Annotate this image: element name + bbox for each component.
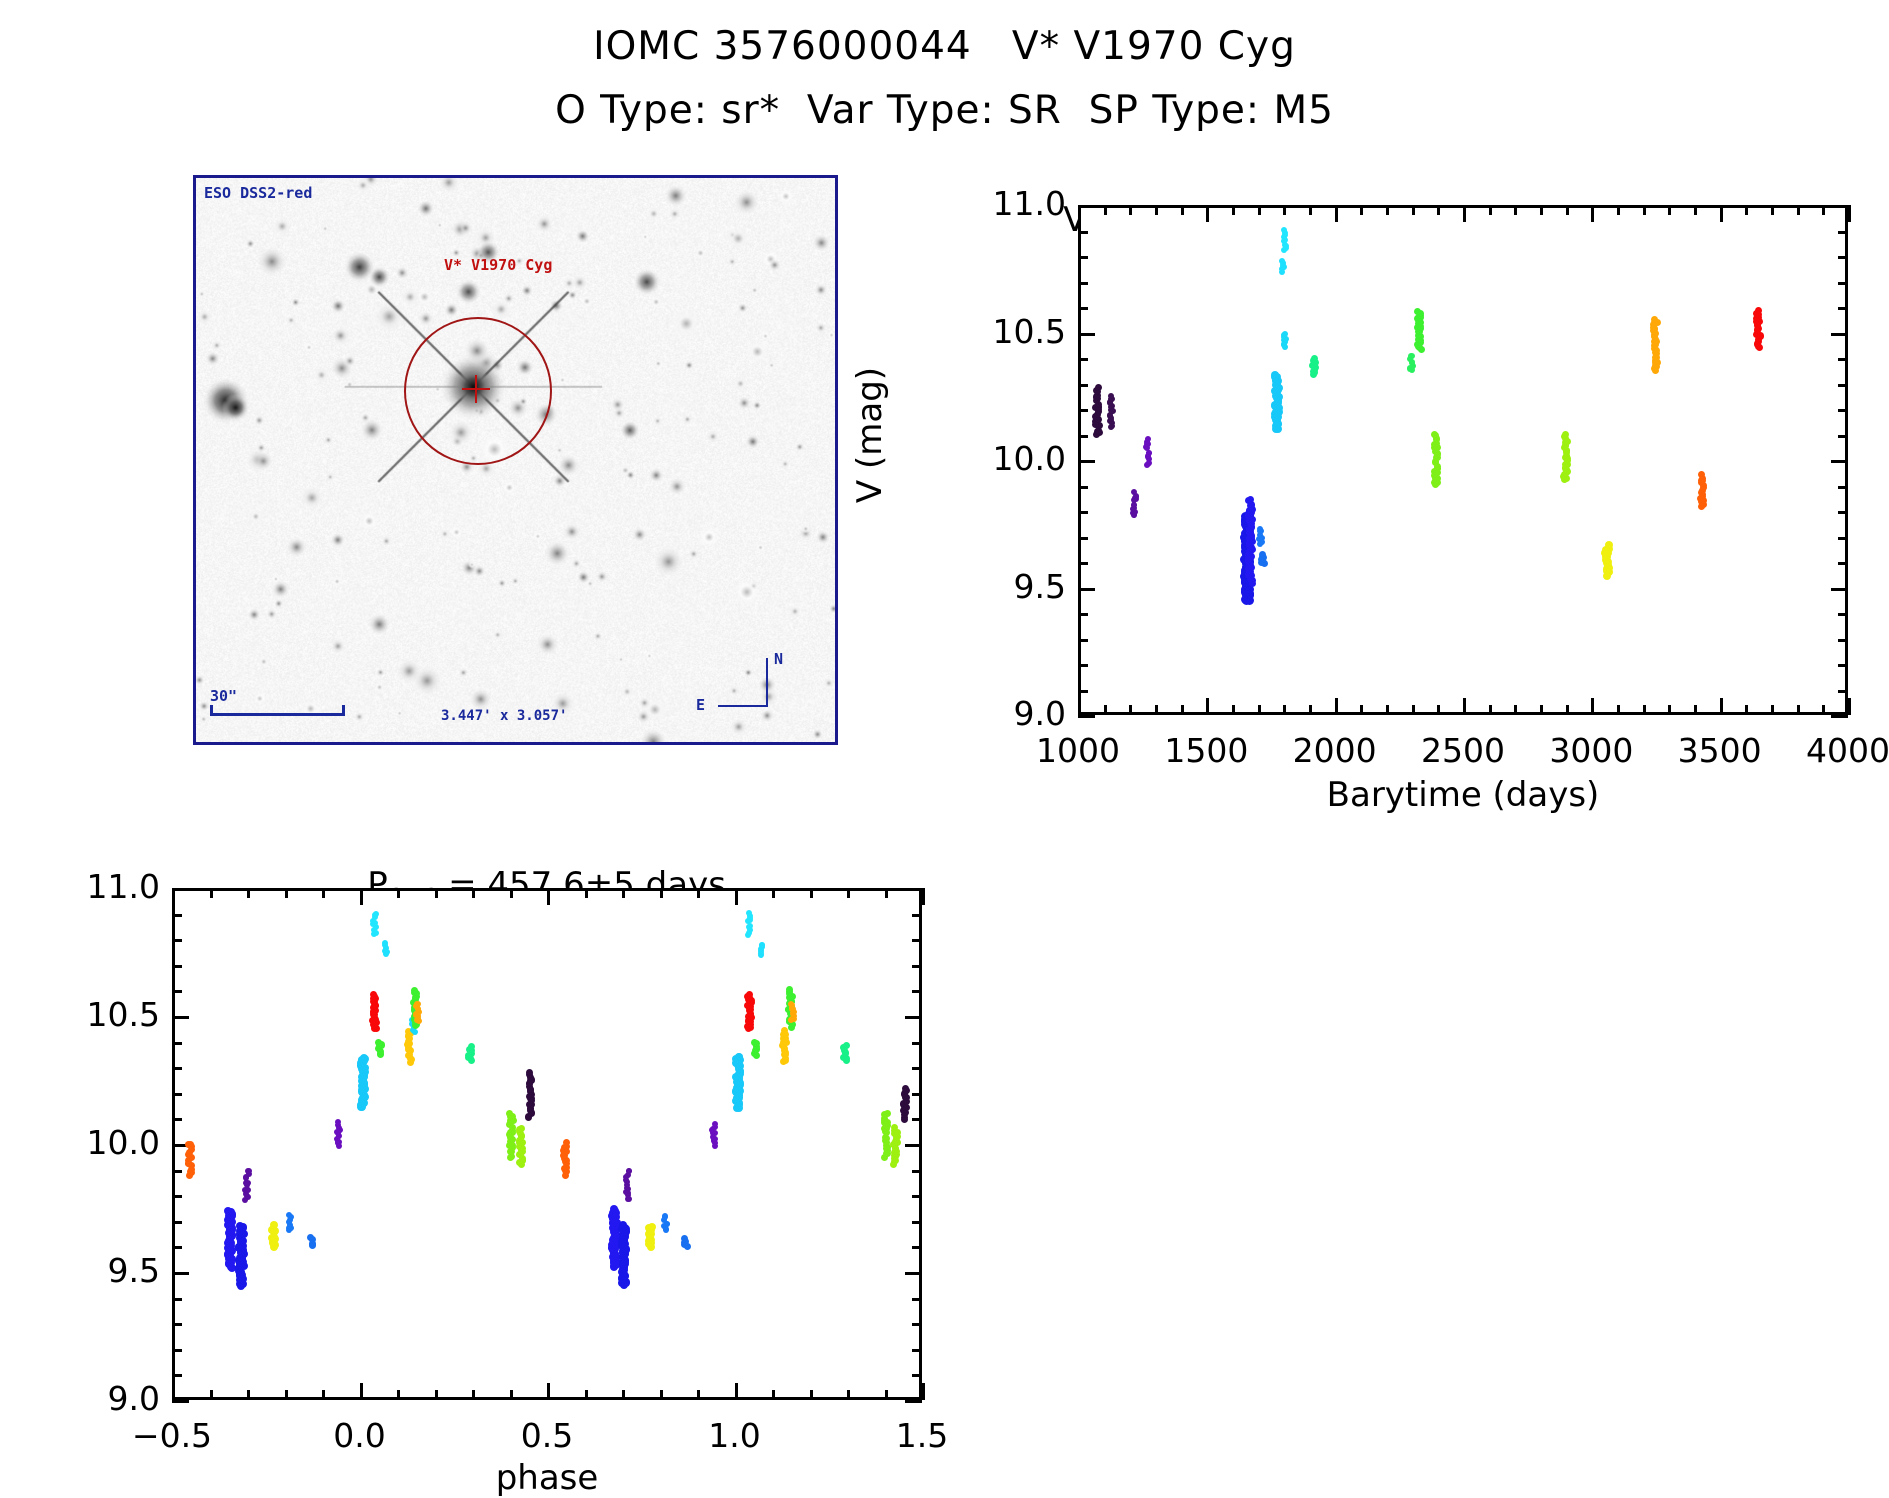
x-minor-tick — [1822, 705, 1825, 715]
y-minor-tick — [1078, 282, 1088, 285]
y-major-tick-right — [905, 888, 922, 891]
y-tick-label: 11.0 — [14, 867, 160, 906]
y-minor-tick-right — [1838, 486, 1848, 489]
y-major-tick — [1078, 205, 1095, 208]
x-tick-label: 2000 — [1265, 731, 1405, 770]
x-minor-tick — [1643, 705, 1646, 715]
compass-north-label: N — [774, 650, 783, 668]
x-tick-label: −0.5 — [102, 1416, 242, 1455]
y-minor-tick-right — [1838, 282, 1848, 285]
y-minor-tick-right — [1838, 384, 1848, 387]
x-minor-tick — [1283, 705, 1286, 715]
x-minor-tick-top — [435, 888, 438, 898]
phase-x-axis-label: phase — [172, 1458, 922, 1498]
y-minor-tick — [1078, 231, 1088, 234]
y-minor-tick — [1078, 409, 1088, 412]
x-tick-label: 3000 — [1521, 731, 1661, 770]
x-minor-tick — [1360, 705, 1363, 715]
y-minor-tick — [172, 1323, 182, 1326]
data-point — [468, 1043, 475, 1050]
y-minor-tick — [1078, 435, 1088, 438]
x-minor-tick — [1412, 705, 1415, 715]
y-minor-tick-right — [912, 1323, 922, 1326]
y-minor-tick-right — [912, 1093, 922, 1096]
data-point — [224, 1207, 232, 1215]
x-minor-tick — [660, 1390, 663, 1400]
y-minor-tick-right — [912, 1118, 922, 1121]
scale-bar-tick-right — [342, 705, 345, 716]
x-minor-tick-top — [1668, 205, 1671, 215]
y-minor-tick-right — [1838, 231, 1848, 234]
y-minor-tick — [172, 1349, 182, 1352]
x-tick-label: 4000 — [1778, 731, 1889, 770]
y-minor-tick — [1078, 307, 1088, 310]
x-minor-tick-top — [885, 888, 888, 898]
y-minor-tick — [172, 1221, 182, 1224]
x-tick-label: 1.0 — [665, 1416, 805, 1455]
y-minor-tick-right — [1838, 639, 1848, 642]
y-tick-label: 10.5 — [920, 312, 1066, 351]
data-point — [746, 910, 752, 916]
x-minor-tick-top — [810, 888, 813, 898]
x-major-tick-top — [1591, 205, 1594, 222]
y-tick-label: 11.0 — [920, 184, 1066, 223]
y-minor-tick-right — [1838, 307, 1848, 310]
x-minor-tick-top — [1745, 205, 1748, 215]
x-minor-tick — [1540, 705, 1543, 715]
x-minor-tick-top — [1694, 205, 1697, 215]
x-minor-tick-top — [322, 888, 325, 898]
x-major-tick-top — [1206, 205, 1209, 222]
scale-bar-tick-left — [210, 705, 213, 716]
y-tick-label: 9.0 — [920, 694, 1066, 733]
x-minor-tick — [435, 1390, 438, 1400]
data-point — [375, 1039, 382, 1046]
data-point — [786, 986, 793, 993]
y-major-tick — [1078, 460, 1095, 463]
y-major-tick — [1078, 715, 1095, 718]
x-minor-tick-top — [397, 888, 400, 898]
y-minor-tick-right — [1838, 409, 1848, 412]
x-major-tick-top — [1463, 205, 1466, 222]
field-size-label: 3.447' x 3.057' — [441, 708, 567, 724]
x-major-tick-top — [922, 888, 925, 905]
x-minor-tick-top — [1232, 205, 1235, 215]
x-minor-tick-top — [697, 888, 700, 898]
x-minor-tick — [1232, 705, 1235, 715]
x-minor-tick-top — [772, 888, 775, 898]
page-title-secondary: O Type: sr* Var Type: SR SP Type: M5 — [0, 88, 1889, 133]
x-minor-tick — [1694, 705, 1697, 715]
target-star-label: V* V1970 Cyg — [444, 256, 552, 274]
page-title-primary: IOMC 3576000044 V* V1970 Cyg — [0, 24, 1889, 69]
x-minor-tick-top — [585, 888, 588, 898]
data-point — [759, 942, 765, 948]
y-tick-label: 9.5 — [920, 567, 1066, 606]
y-tick-label: 10.0 — [920, 439, 1066, 478]
x-tick-label: 1000 — [1008, 731, 1148, 770]
x-minor-tick-top — [1566, 205, 1569, 215]
x-minor-tick-top — [1489, 205, 1492, 215]
x-minor-tick-top — [660, 888, 663, 898]
y-tick-label: 9.0 — [14, 1379, 160, 1418]
x-minor-tick — [322, 1390, 325, 1400]
compass-east-line — [718, 705, 768, 707]
survey-label: ESO DSS2-red — [204, 184, 312, 202]
x-minor-tick — [585, 1390, 588, 1400]
data-point — [1414, 308, 1421, 315]
y-minor-tick — [172, 914, 182, 917]
x-major-tick-top — [547, 888, 550, 905]
compass-north-line — [766, 658, 768, 706]
x-minor-tick-top — [1360, 205, 1363, 215]
x-minor-tick — [1181, 705, 1184, 715]
x-tick-label: 0.0 — [290, 1416, 430, 1455]
y-minor-tick-right — [912, 1298, 922, 1301]
x-minor-tick-top — [1540, 205, 1543, 215]
phase-plot-frame — [172, 888, 922, 1400]
y-minor-tick-right — [1838, 562, 1848, 565]
y-minor-tick-right — [1838, 613, 1848, 616]
target-aperture-circle — [404, 317, 552, 465]
x-tick-label: 1500 — [1136, 731, 1276, 770]
x-minor-tick-top — [1643, 205, 1646, 215]
data-point — [751, 1039, 758, 1046]
compass-east-label: E — [696, 696, 705, 714]
y-minor-tick-right — [912, 1349, 922, 1352]
data-point — [516, 1126, 523, 1133]
x-minor-tick-top — [1386, 205, 1389, 215]
y-major-tick-right — [905, 1144, 922, 1147]
x-minor-tick-top — [1412, 205, 1415, 215]
y-minor-tick — [172, 1246, 182, 1249]
y-major-tick — [1078, 588, 1095, 591]
y-minor-tick — [1078, 511, 1088, 514]
data-point — [1282, 331, 1288, 337]
x-major-tick — [735, 1383, 738, 1400]
x-minor-tick — [772, 1390, 775, 1400]
y-minor-tick-right — [1838, 664, 1848, 667]
y-minor-tick — [1078, 639, 1088, 642]
x-major-tick-top — [360, 888, 363, 905]
x-minor-tick-top — [1822, 205, 1825, 215]
y-minor-tick — [172, 1170, 182, 1173]
x-minor-tick-top — [1437, 205, 1440, 215]
x-minor-tick-top — [1104, 205, 1107, 215]
x-tick-label: 0.5 — [477, 1416, 617, 1455]
x-minor-tick-top — [1514, 205, 1517, 215]
x-minor-tick — [1566, 705, 1569, 715]
y-minor-tick — [172, 1195, 182, 1198]
x-minor-tick — [1797, 705, 1800, 715]
x-minor-tick — [247, 1390, 250, 1400]
x-minor-tick — [1104, 705, 1107, 715]
x-minor-tick — [1668, 705, 1671, 715]
y-major-tick-right — [905, 1016, 922, 1019]
lightcurve-plot-frame — [1078, 205, 1848, 715]
data-point — [1311, 355, 1318, 362]
x-major-tick — [1591, 698, 1594, 715]
x-minor-tick — [1155, 705, 1158, 715]
x-minor-tick-top — [472, 888, 475, 898]
x-minor-tick-top — [1258, 205, 1261, 215]
x-major-tick — [1206, 698, 1209, 715]
x-major-tick-top — [1848, 205, 1851, 222]
y-minor-tick — [1078, 384, 1088, 387]
x-minor-tick — [810, 1390, 813, 1400]
y-major-tick-right — [1831, 460, 1848, 463]
y-minor-tick — [172, 990, 182, 993]
y-minor-tick — [1078, 690, 1088, 693]
data-point — [246, 1168, 252, 1174]
x-minor-tick — [847, 1390, 850, 1400]
y-tick-label: 10.0 — [14, 1123, 160, 1162]
y-minor-tick — [1078, 486, 1088, 489]
x-minor-tick-top — [1771, 205, 1774, 215]
lightcurve-y-axis-label: V (mag) — [850, 315, 890, 555]
y-minor-tick-right — [1838, 511, 1848, 514]
x-major-tick — [1720, 698, 1723, 715]
y-minor-tick-right — [912, 1246, 922, 1249]
scale-bar — [210, 713, 345, 716]
lightcurve-x-axis-label: Barytime (days) — [1078, 775, 1848, 815]
y-tick-label: 10.5 — [14, 995, 160, 1034]
x-major-tick — [1335, 698, 1338, 715]
data-point — [1145, 436, 1151, 442]
x-tick-label: 1.5 — [852, 1416, 992, 1455]
data-point — [335, 1119, 341, 1125]
y-minor-tick-right — [1838, 537, 1848, 540]
x-major-tick-top — [1335, 205, 1338, 222]
y-major-tick-right — [1831, 715, 1848, 718]
y-minor-tick-right — [912, 914, 922, 917]
y-major-tick — [172, 888, 189, 891]
y-minor-tick-right — [912, 990, 922, 993]
y-minor-tick — [172, 1067, 182, 1070]
y-minor-tick — [1078, 537, 1088, 540]
y-minor-tick — [172, 1042, 182, 1045]
data-point — [1257, 526, 1263, 532]
data-point — [526, 1069, 533, 1076]
data-point — [746, 991, 753, 998]
y-major-tick — [172, 1400, 189, 1403]
x-major-tick — [1078, 698, 1081, 715]
y-minor-tick-right — [912, 1170, 922, 1173]
x-tick-label: 3500 — [1650, 731, 1790, 770]
y-minor-tick — [1078, 613, 1088, 616]
x-minor-tick-top — [622, 888, 625, 898]
y-minor-tick-right — [1838, 435, 1848, 438]
y-major-tick-right — [905, 1400, 922, 1403]
x-minor-tick — [1437, 705, 1440, 715]
y-minor-tick — [172, 1374, 182, 1377]
y-minor-tick-right — [912, 1195, 922, 1198]
x-major-tick — [172, 1383, 175, 1400]
x-minor-tick — [1258, 705, 1261, 715]
x-minor-tick — [1386, 705, 1389, 715]
x-major-tick-top — [735, 888, 738, 905]
y-minor-tick-right — [1838, 690, 1848, 693]
crosshair-vertical — [475, 375, 477, 403]
x-minor-tick-top — [1309, 205, 1312, 215]
y-minor-tick — [172, 1118, 182, 1121]
y-minor-tick-right — [1838, 256, 1848, 259]
data-point — [373, 911, 379, 917]
x-major-tick-top — [1720, 205, 1723, 222]
x-major-tick — [922, 1383, 925, 1400]
x-major-tick — [360, 1383, 363, 1400]
x-minor-tick-top — [1617, 205, 1620, 215]
x-minor-tick-top — [510, 888, 513, 898]
x-minor-tick — [622, 1390, 625, 1400]
y-minor-tick — [1078, 562, 1088, 565]
y-minor-tick — [172, 1298, 182, 1301]
y-major-tick-right — [1831, 205, 1848, 208]
y-major-tick-right — [905, 1272, 922, 1275]
x-minor-tick — [697, 1390, 700, 1400]
data-point — [902, 1085, 909, 1092]
x-minor-tick — [397, 1390, 400, 1400]
x-minor-tick — [885, 1390, 888, 1400]
x-minor-tick — [1617, 705, 1620, 715]
data-point — [239, 1223, 247, 1231]
y-minor-tick — [1078, 256, 1088, 259]
y-minor-tick-right — [912, 1374, 922, 1377]
x-major-tick — [547, 1383, 550, 1400]
x-minor-tick-top — [1129, 205, 1132, 215]
x-minor-tick-top — [1155, 205, 1158, 215]
y-minor-tick-right — [1838, 358, 1848, 361]
y-minor-tick — [1078, 664, 1088, 667]
x-minor-tick-top — [210, 888, 213, 898]
sky-image-panel: ESO DSS2-red V* V1970 Cyg 30" 3.447' x 3… — [193, 175, 838, 745]
x-minor-tick-top — [847, 888, 850, 898]
x-minor-tick — [1771, 705, 1774, 715]
y-tick-label: 9.5 — [14, 1251, 160, 1290]
x-tick-label: 2500 — [1393, 731, 1533, 770]
x-minor-tick — [1129, 705, 1132, 715]
data-point — [619, 1221, 627, 1229]
y-major-tick-right — [1831, 588, 1848, 591]
x-minor-tick-top — [247, 888, 250, 898]
y-minor-tick — [172, 1093, 182, 1096]
x-major-tick — [1463, 698, 1466, 715]
y-minor-tick-right — [912, 965, 922, 968]
y-minor-tick — [172, 939, 182, 942]
data-point — [1281, 227, 1287, 233]
x-minor-tick-top — [1181, 205, 1184, 215]
x-minor-tick — [1514, 705, 1517, 715]
x-minor-tick — [210, 1390, 213, 1400]
x-minor-tick-top — [285, 888, 288, 898]
y-major-tick — [172, 1272, 189, 1275]
y-minor-tick-right — [912, 1042, 922, 1045]
y-major-tick — [172, 1016, 189, 1019]
x-minor-tick-top — [1797, 205, 1800, 215]
y-minor-tick-right — [912, 1067, 922, 1070]
data-point — [662, 1214, 668, 1220]
x-minor-tick — [472, 1390, 475, 1400]
y-major-tick-right — [1831, 333, 1848, 336]
x-minor-tick — [1309, 705, 1312, 715]
data-point — [1247, 496, 1254, 503]
x-minor-tick — [285, 1390, 288, 1400]
y-minor-tick-right — [912, 939, 922, 942]
x-minor-tick — [1489, 705, 1492, 715]
data-point — [1562, 431, 1569, 438]
data-point — [1131, 489, 1137, 495]
data-point — [286, 1212, 292, 1218]
x-minor-tick-top — [1283, 205, 1286, 215]
x-major-tick — [1848, 698, 1851, 715]
x-minor-tick — [510, 1390, 513, 1400]
y-minor-tick — [1078, 358, 1088, 361]
y-major-tick — [1078, 333, 1095, 336]
scale-bar-label: 30" — [210, 687, 237, 705]
y-minor-tick — [172, 965, 182, 968]
x-minor-tick — [1745, 705, 1748, 715]
y-minor-tick-right — [912, 1221, 922, 1224]
